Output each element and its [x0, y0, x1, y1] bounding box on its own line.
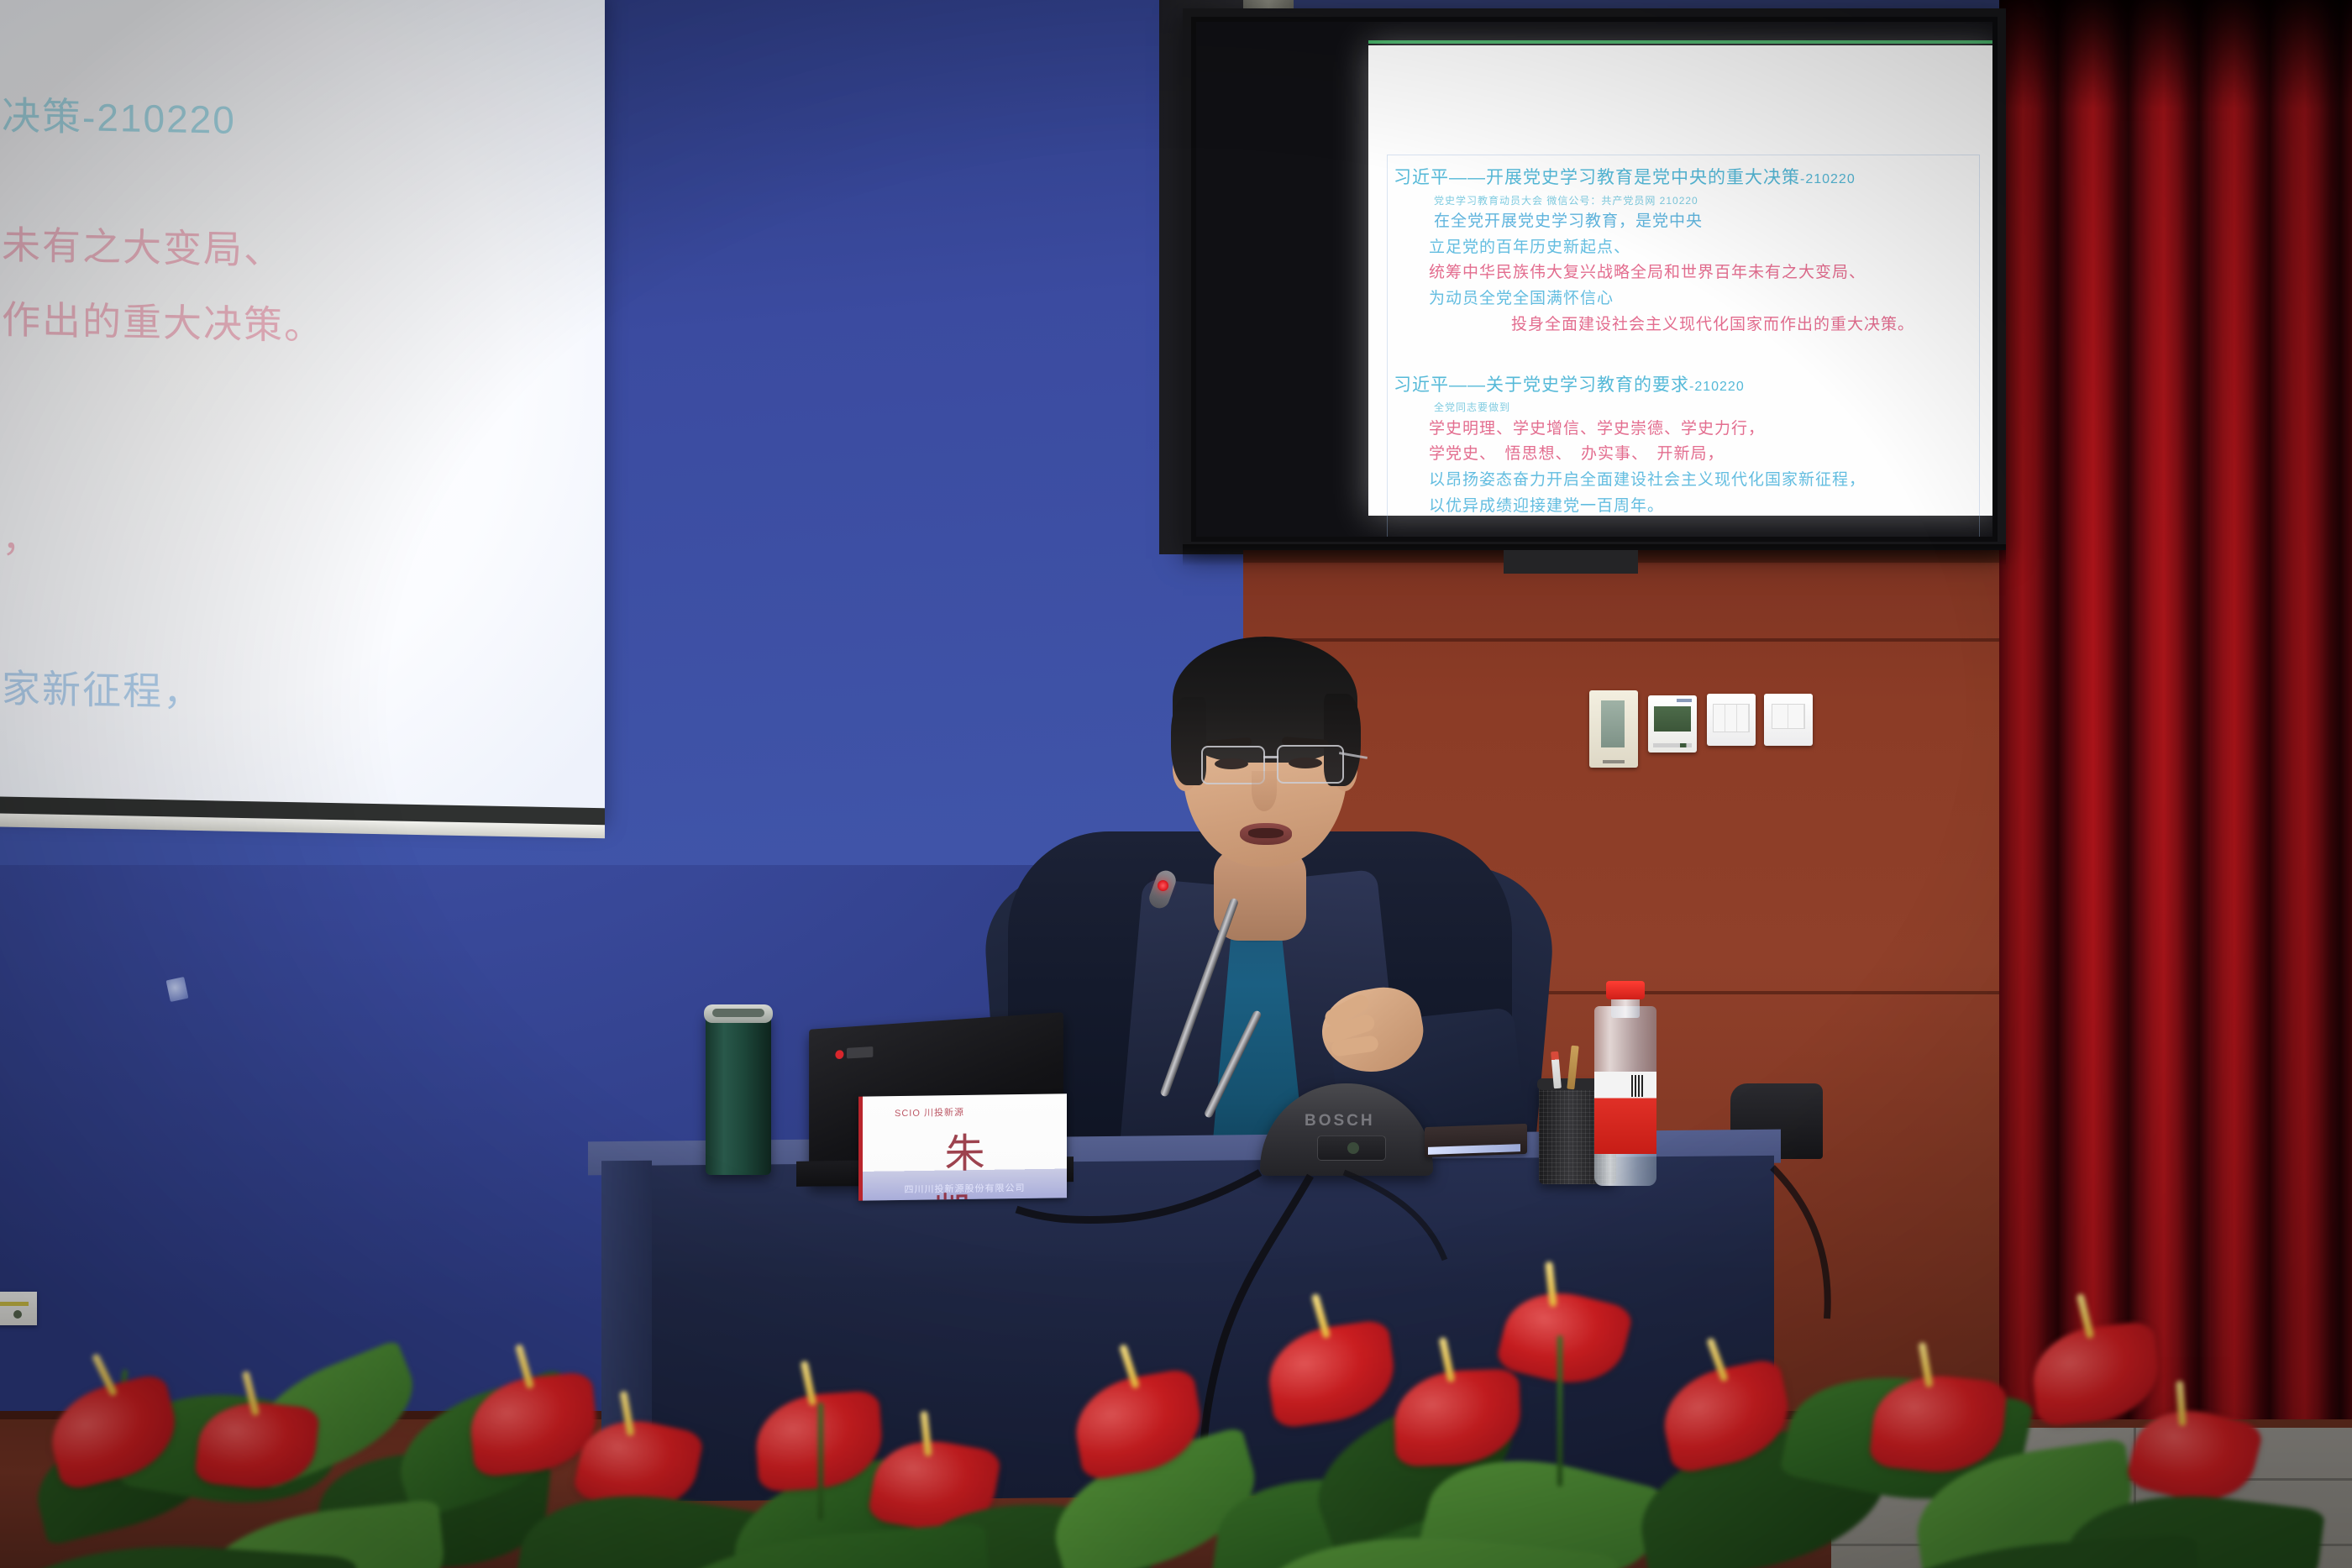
thermostat-lcd-green — [1654, 706, 1691, 732]
foreground-plants — [0, 1243, 2352, 1568]
projection-screen-left: 央的重大决策-210220 世界百年未有之大变局、 化国家而作出的重大决策。 -… — [0, 0, 605, 821]
microphone-button-led-icon — [1347, 1142, 1359, 1154]
projection-fragment: 开新局， — [0, 573, 596, 663]
bottle-label — [1594, 1072, 1656, 1154]
slide-conclusion: 投身全面建设社会主义现代化国家而作出的重大决策。 — [1511, 312, 1992, 338]
conference-room-scene: 央的重大决策-210220 世界百年未有之大变局、 化国家而作出的重大决策。 -… — [0, 0, 2352, 1568]
speaker — [1000, 621, 1520, 1176]
slide-text-block: 习近平——开展党史学习教育是党中央的重大决策-210220 党史学习教育动员大会… — [1394, 165, 1992, 520]
nose — [1252, 771, 1277, 811]
brand-mark — [1677, 699, 1692, 702]
display-wall-mount — [1504, 550, 1638, 574]
thermostat-slider[interactable] — [1653, 743, 1692, 747]
projection-fragment: 现代化国家新征程， — [0, 648, 596, 738]
projection-fragment: 世界百年未有之大变局、 — [0, 205, 596, 295]
plant-stem — [818, 1403, 823, 1520]
vertical-thermostat-panel[interactable] — [1589, 690, 1638, 768]
curtain-shadow — [1999, 0, 2352, 109]
anthurium-flower — [1263, 1319, 1400, 1429]
slide-body-line: 在全党开展党史学习教育，是党中央 — [1434, 209, 1992, 235]
thermos-cap-inner — [712, 1009, 764, 1017]
display-panel: 习近平——开展党史学习教育是党中央的重大决策-210220 党史学习教育动员大会… — [1196, 22, 1992, 537]
nameplate-company: 四川川投新源股份有限公司 — [863, 1180, 1067, 1196]
slide-heading-2: 习近平——关于党史学习教育的要求-210220 — [1394, 372, 1992, 400]
thermostat-lcd — [1601, 700, 1625, 747]
laptop-logo-dot-icon — [835, 1050, 843, 1059]
slide-body-line: 统筹中华民族伟大复兴战略全局和世界百年未有之大变局、 — [1429, 260, 1992, 286]
light-switch-triple[interactable] — [1707, 694, 1756, 746]
hvac-thermostat[interactable] — [1648, 695, 1697, 753]
microphone-brand-label: BOSCH — [1305, 1112, 1375, 1130]
glasses-lens-right — [1277, 745, 1344, 784]
rocker-group[interactable] — [1713, 704, 1750, 732]
projection-text: 央的重大决策-210220 世界百年未有之大变局、 化国家而作出的重大决策。 -… — [0, 76, 596, 738]
projection-fragment: -210220 — [0, 389, 596, 479]
barcode-icon — [1631, 1075, 1643, 1097]
slide-source-note: 党史学习教育动员大会 微信公号：共产党员网 210220 — [1434, 192, 1992, 209]
slide-body-line: 学党史、 悟思想、 办实事、 开新局， — [1429, 442, 1992, 468]
laptop-brand-logo — [847, 1046, 873, 1058]
projection-fragment: 化国家而作出的重大决策。 — [0, 280, 596, 370]
slide-lead: 全党同志要做到 — [1434, 399, 1992, 416]
slide-body-line: 立足党的百年历史新起点、 — [1429, 235, 1992, 261]
slide-body-line: 以优异成绩迎接建党一百周年。 — [1429, 494, 1992, 520]
slide-body-line: 为动员全党全国满怀信心 — [1429, 286, 1992, 312]
wall-display[interactable]: 习近平——开展党史学习教育是党中央的重大决策-210220 党史学习教育动员大会… — [1183, 8, 2006, 550]
anthurium-flower — [2029, 1320, 2164, 1427]
light-switch-double[interactable] — [1764, 694, 1813, 746]
nameplate-org-logo: SCIO 川投新源 — [895, 1105, 964, 1120]
slide-body-line: 以昂扬姿态奋力开启全面建设社会主义现代化国家新征程， — [1429, 468, 1992, 494]
bottle-cap[interactable] — [1606, 981, 1645, 999]
nameplate: SCIO 川投新源 朱 凯 四川川投新源股份有限公司 — [858, 1093, 1067, 1200]
rocker-group[interactable] — [1772, 704, 1805, 729]
mouth-opening — [1248, 828, 1284, 838]
plant-stem — [1557, 1335, 1562, 1487]
microphone-led-icon — [1158, 880, 1168, 891]
display-sync-line — [1368, 40, 1992, 44]
brand-mark — [1603, 760, 1625, 763]
thermos-flask[interactable] — [706, 1010, 771, 1175]
projection-fragment: 央的重大决策-210220 — [0, 76, 596, 165]
slide-surface: 习近平——开展党史学习教育是党中央的重大决策-210220 党史学习教育动员大会… — [1368, 45, 1992, 516]
projection-fragment: 学史力行， — [0, 498, 596, 588]
slide-body-line: 学史明理、学史增信、学史崇德、学史力行， — [1429, 417, 1992, 443]
slide-heading-1: 习近平——开展党史学习教育是党中央的重大决策-210220 — [1394, 165, 1992, 192]
glasses-bridge — [1263, 756, 1278, 758]
